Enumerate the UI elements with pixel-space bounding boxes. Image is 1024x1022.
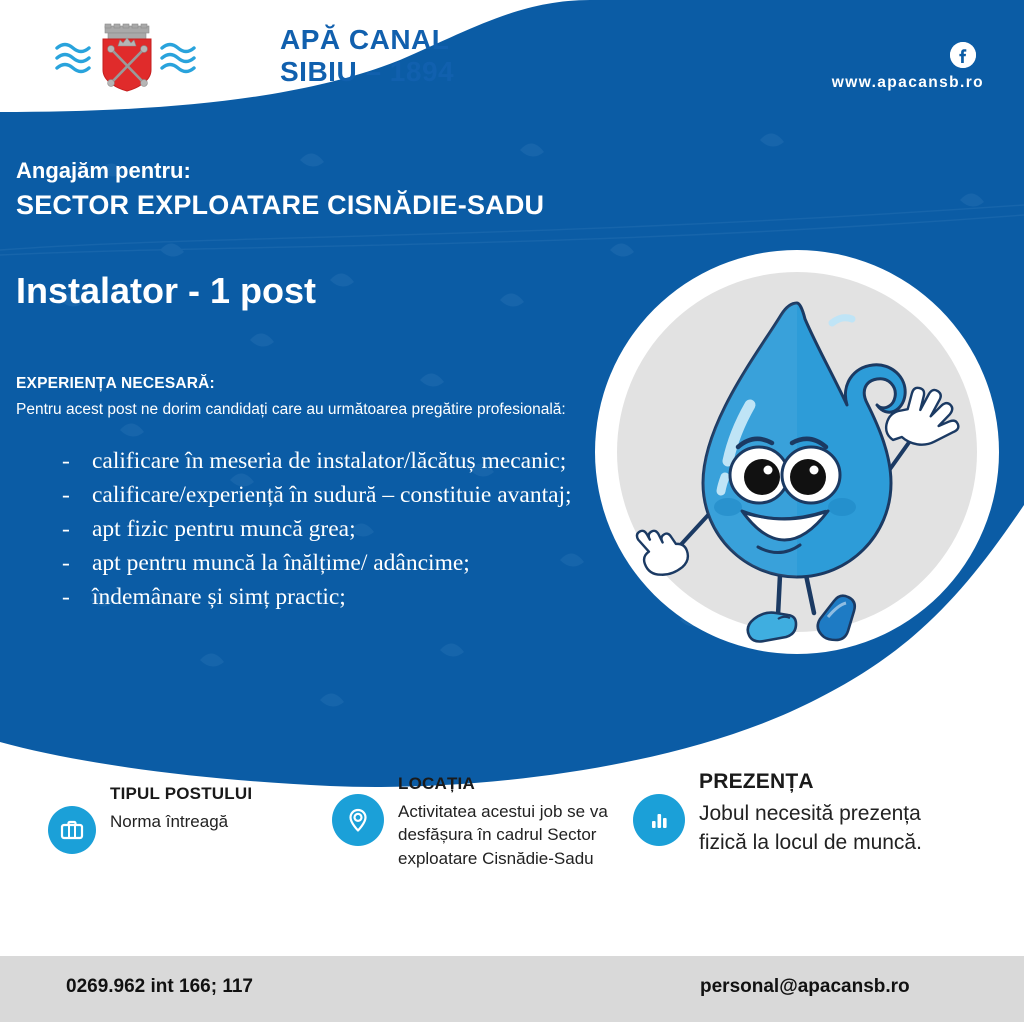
requirement-text: calificare în meseria de instalator/lăcă… (92, 446, 602, 478)
requirement-text: apt fizic pentru muncă grea; (92, 514, 602, 546)
info-column-location: LOCAȚIA Activitatea acestui job se va de… (332, 774, 622, 870)
facebook-icon[interactable] (950, 42, 976, 68)
sibiu-coat-of-arms-icon (55, 20, 270, 92)
info-columns: TIPUL POSTULUI Norma întreagă LOCAȚIA Ac… (0, 762, 1024, 937)
info-column-presence: PREZENȚA Jobul necesită prezența fizică … (633, 770, 973, 858)
list-item: - apt pentru muncă la înălțime/ adâncime… (62, 548, 602, 580)
column-text: Jobul necesită prezența fizică la locul … (699, 800, 973, 858)
company-logo: APĂ CANAL SIBIU – 1894 (55, 20, 454, 92)
info-column-job-type: TIPUL POSTULUI Norma întreagă (48, 784, 328, 854)
logo-line-2: SIBIU – 1894 (280, 58, 454, 86)
poster-footer: 0269.962 int 166; 117 personal@apacansb.… (0, 956, 1024, 1022)
column-text: Norma întreagă (110, 810, 252, 833)
water-droplet-mascot-icon (592, 245, 1002, 660)
bullet-dash: - (62, 582, 92, 614)
requirement-text: apt pentru muncă la înălțime/ adâncime; (92, 548, 602, 580)
requirement-text: îndemânare și simț practic; (92, 582, 602, 614)
page-title: Instalator - 1 post (16, 270, 316, 312)
bullet-dash: - (62, 480, 92, 512)
list-item: - îndemânare și simț practic; (62, 582, 602, 614)
requirements-list: - calificare în meseria de instalator/lă… (62, 446, 602, 616)
logo-line-1: APĂ CANAL (280, 26, 454, 54)
column-text: Activitatea acestui job se va desfășura … (398, 800, 622, 870)
column-title: LOCAȚIA (398, 774, 622, 794)
website-url[interactable]: www.apacansb.ro (832, 74, 984, 92)
list-item: - calificare în meseria de instalator/lă… (62, 446, 602, 478)
contact-email[interactable]: personal@apacansb.ro (700, 976, 910, 998)
requirement-text: calificare/experiență în sudură – consti… (92, 480, 602, 512)
bar-chart-icon (633, 794, 685, 846)
bullet-dash: - (62, 514, 92, 546)
briefcase-icon (48, 806, 96, 854)
bullet-dash: - (62, 446, 92, 478)
job-poster: APĂ CANAL SIBIU – 1894 www.apacansb.ro A… (0, 0, 1024, 1022)
list-item: - apt fizic pentru muncă grea; (62, 514, 602, 546)
column-title: TIPUL POSTULUI (110, 784, 252, 804)
bullet-dash: - (62, 548, 92, 580)
poster-header: APĂ CANAL SIBIU – 1894 www.apacansb.ro (0, 0, 1024, 110)
contact-phone[interactable]: 0269.962 int 166; 117 (66, 976, 253, 998)
experience-heading: EXPERIENȚA NECESARĂ: (16, 375, 215, 393)
kicker-text: Angajăm pentru: (16, 158, 191, 184)
column-title: PREZENȚA (699, 770, 973, 794)
list-item: - calificare/experiență în sudură – cons… (62, 480, 602, 512)
sector-title: SECTOR EXPLOATARE CISNĂDIE-SADU (16, 190, 544, 221)
location-pin-icon (332, 794, 384, 846)
experience-intro: Pentru acest post ne dorim candidați car… (16, 400, 586, 421)
